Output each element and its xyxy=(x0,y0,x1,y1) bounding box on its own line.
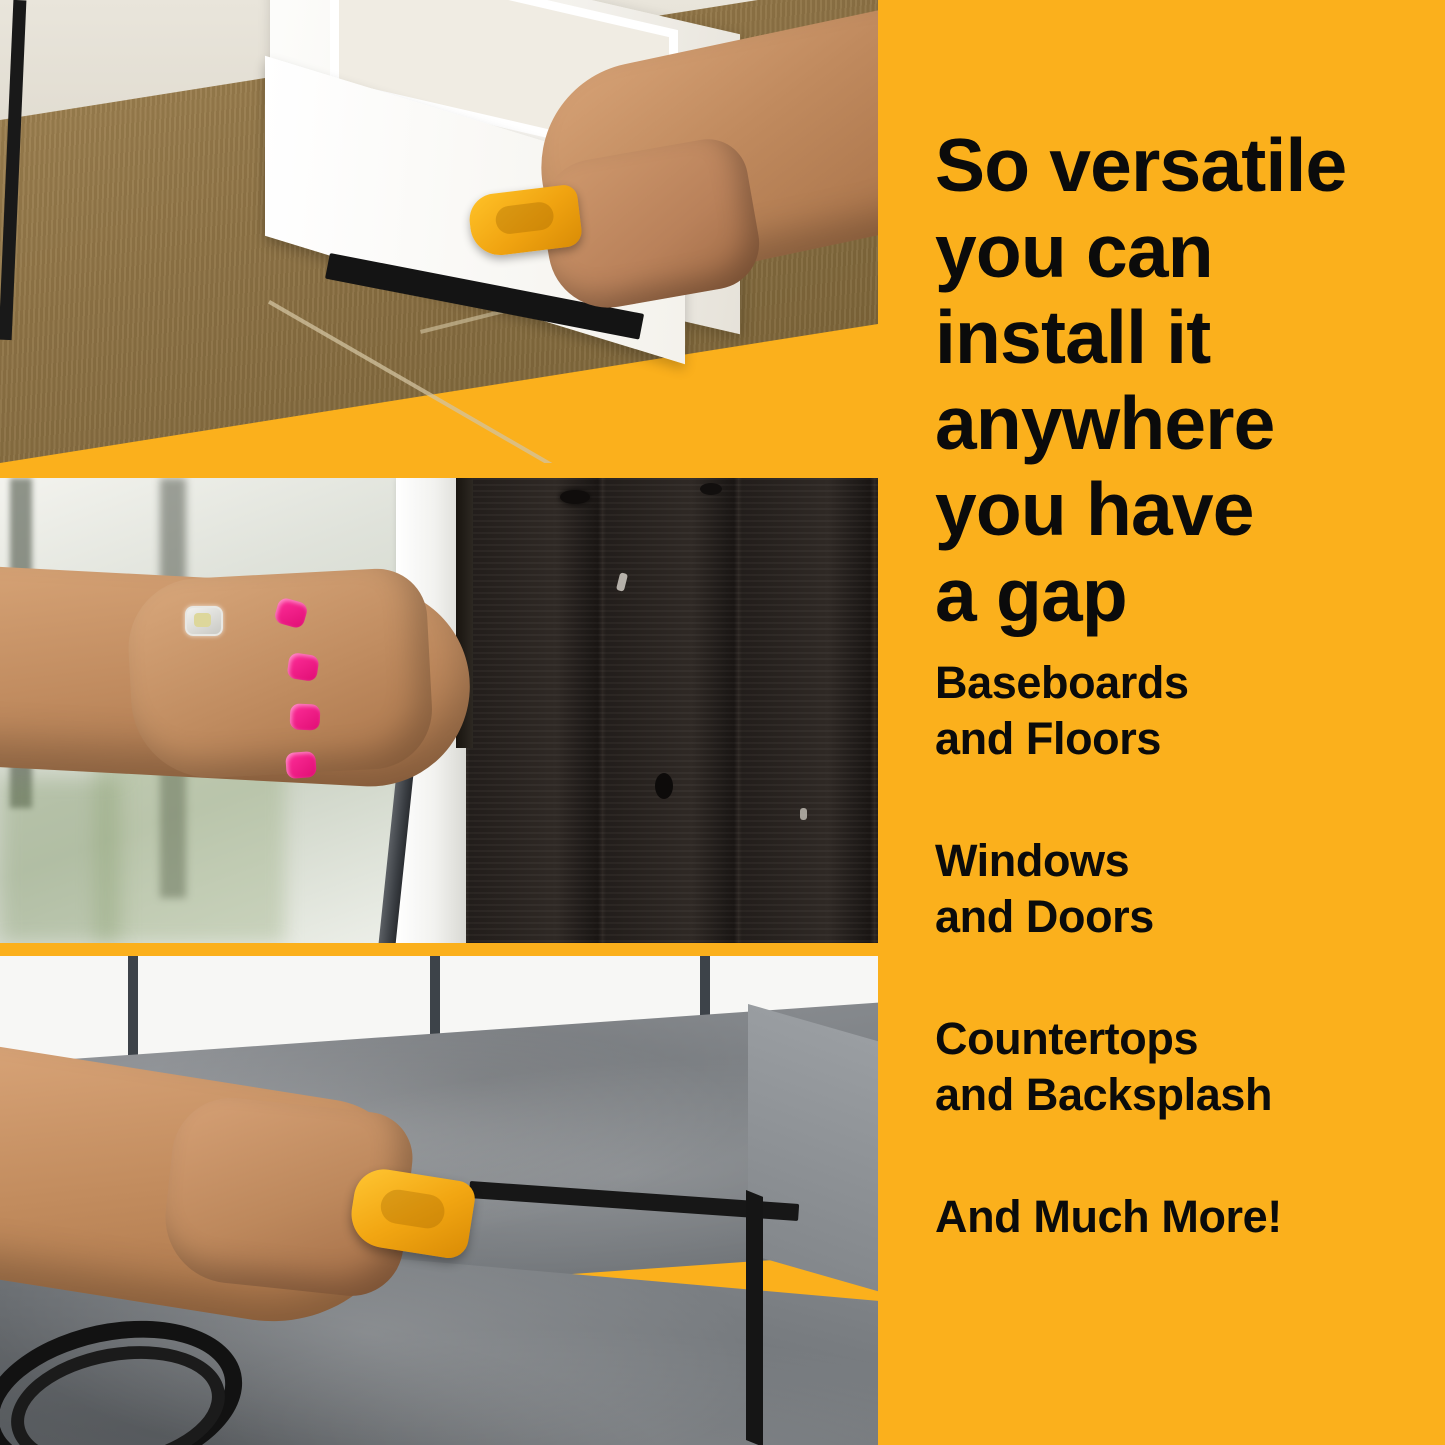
use-case-list: Baseboards and Floors Windows and Doors … xyxy=(935,655,1435,1245)
window-scene xyxy=(0,478,878,943)
text-column: So versatile you can install it anywhere… xyxy=(878,0,1445,1445)
use-case-item-countertops: Countertops and Backsplash xyxy=(935,1011,1435,1123)
wood-knot xyxy=(700,483,722,495)
photo-baseboard-floor-install: Hand using yellow applicator tool to pre… xyxy=(0,0,878,463)
headline: So versatile you can install it anywhere… xyxy=(935,122,1435,638)
use-case-item-baseboards: Baseboards and Floors xyxy=(935,655,1435,767)
background-foliage xyxy=(0,778,120,943)
paint-speck xyxy=(800,808,807,820)
baseboard-scene xyxy=(0,0,878,463)
photo-countertop-backsplash-install: Hand using yellow applicator tool to run… xyxy=(0,956,878,1445)
photo-window-door-install: Hand with pink nails and diamond ring pr… xyxy=(0,478,878,943)
pink-fingernail xyxy=(285,751,317,779)
diamond-ring xyxy=(185,606,223,636)
use-case-item-much-more: And Much More! xyxy=(935,1189,1435,1245)
use-case-item-windows: Windows and Doors xyxy=(935,833,1435,945)
countertop-scene xyxy=(0,956,878,1445)
pink-fingernail xyxy=(290,703,321,730)
wood-knot xyxy=(560,490,590,504)
gray-backsplash-side xyxy=(748,1004,878,1291)
wood-knot xyxy=(655,773,673,799)
hand xyxy=(125,566,435,781)
pink-fingernail xyxy=(286,652,319,682)
black-sealant-strip xyxy=(746,1190,763,1445)
product-feature-panel: Hand using yellow applicator tool to pre… xyxy=(0,0,1445,1445)
photo-column: Hand using yellow applicator tool to pre… xyxy=(0,0,878,1445)
dark-wood-siding xyxy=(466,478,878,943)
